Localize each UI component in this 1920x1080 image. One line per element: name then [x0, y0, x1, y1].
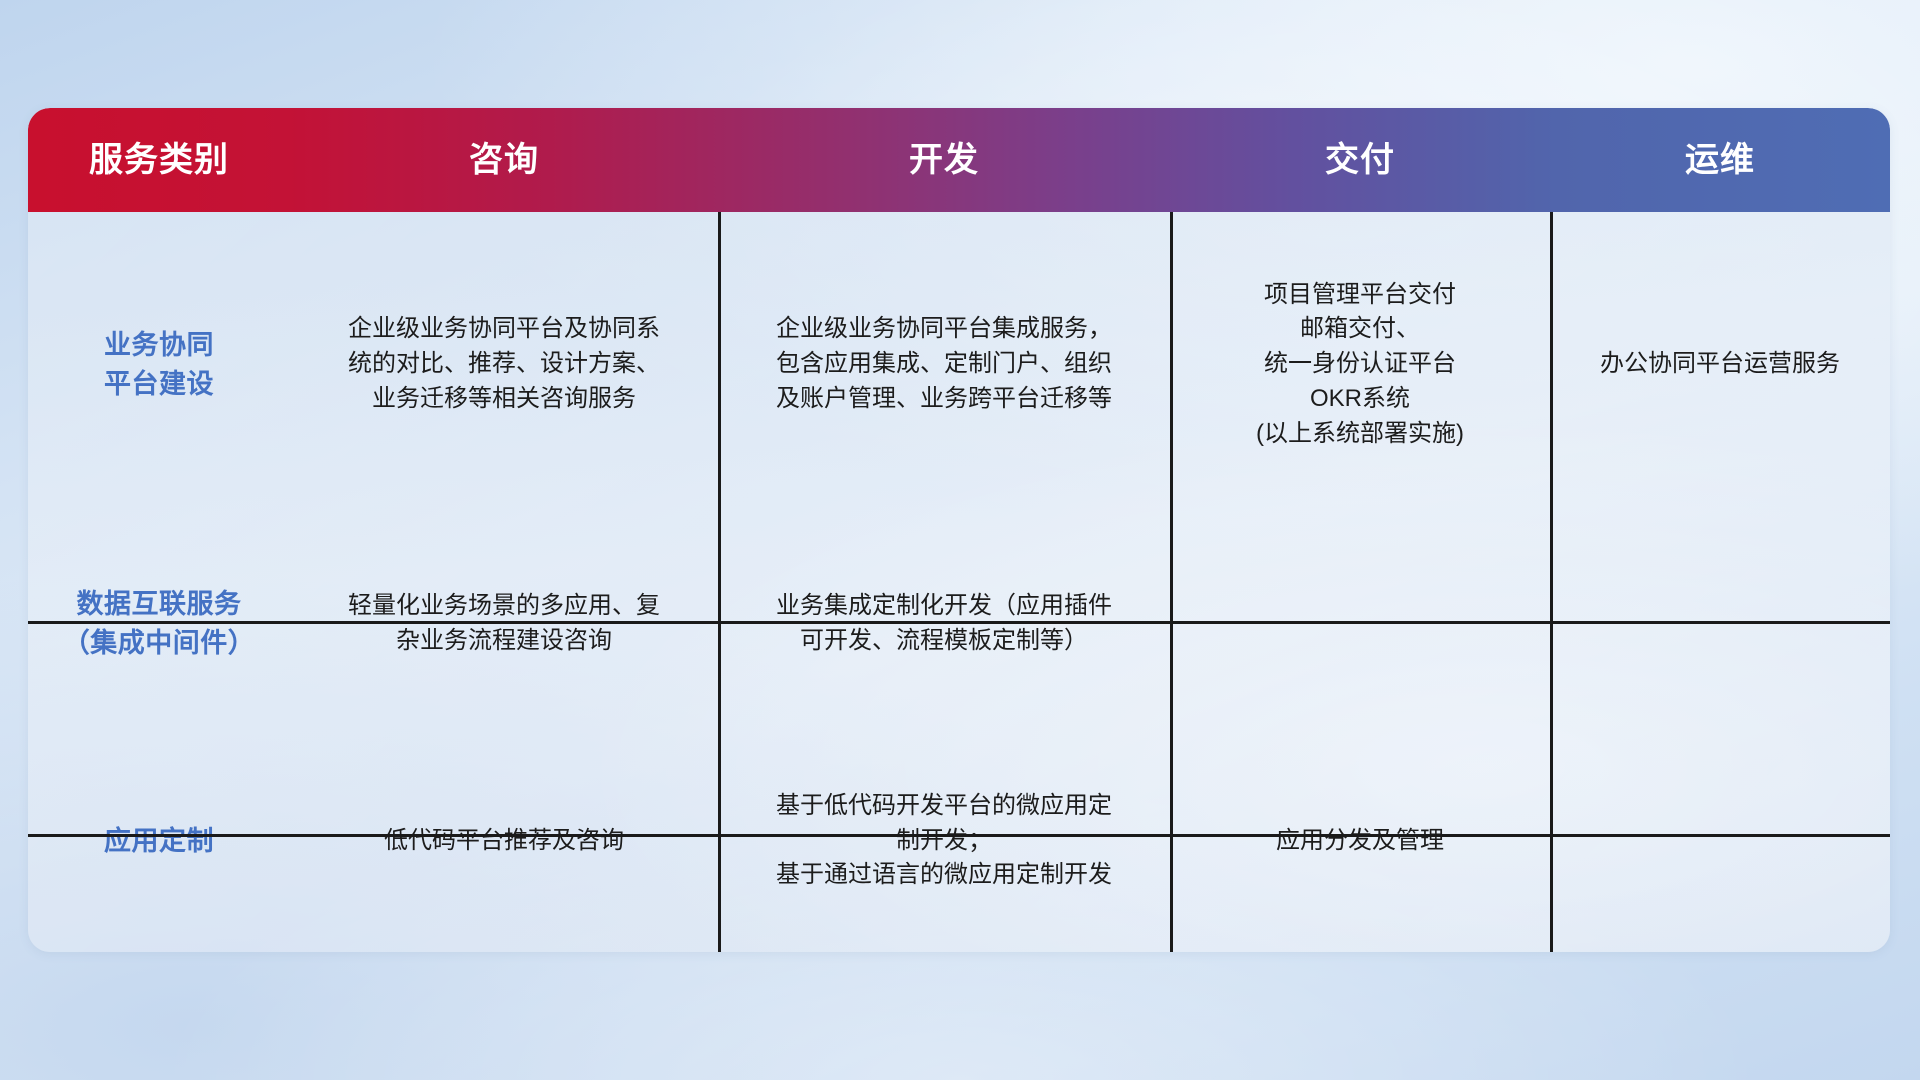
column-divider-consulting-development: [718, 212, 721, 952]
column-header-delivery: 交付: [1170, 108, 1550, 212]
column-divider-delivery-operations: [1550, 212, 1553, 952]
table-header-row: 服务类别 咨询 开发 交付 运维: [28, 108, 1890, 212]
row-label-business-collaboration: 业务协同 平台建设: [28, 212, 290, 517]
cell-row3-development: 基于低代码开发平台的微应用定 制开发； 基于通过语言的微应用定制开发: [718, 730, 1170, 952]
cell-row3-consulting: 低代码平台推荐及咨询: [290, 730, 718, 952]
cell-row3-operations: [1550, 730, 1890, 952]
table-row: 业务协同 平台建设 企业级业务协同平台及协同系 统的对比、推荐、设计方案、 业务…: [28, 212, 1890, 517]
table-row: 应用定制 低代码平台推荐及咨询 基于低代码开发平台的微应用定 制开发； 基于通过…: [28, 730, 1890, 952]
cell-row3-delivery: 应用分发及管理: [1170, 730, 1550, 952]
cell-row1-delivery: 项目管理平台交付 邮箱交付、 统一身份认证平台 OKR系统 (以上系统部署实施): [1170, 212, 1550, 517]
service-matrix-table: 服务类别 咨询 开发 交付 运维 业务协同 平台建设 企业级业务协同平台及协同系…: [28, 108, 1890, 952]
column-header-operations: 运维: [1550, 108, 1890, 212]
row-label-app-customization: 应用定制: [28, 730, 290, 952]
column-header-development: 开发: [718, 108, 1170, 212]
column-header-consulting: 咨询: [290, 108, 718, 212]
cell-row1-development: 企业级业务协同平台集成服务， 包含应用集成、定制门户、组织 及账户管理、业务跨平…: [718, 212, 1170, 517]
cell-row1-operations: 办公协同平台运营服务: [1550, 212, 1890, 517]
row-divider-2: [28, 834, 1890, 837]
cell-row1-consulting: 企业级业务协同平台及协同系 统的对比、推荐、设计方案、 业务迁移等相关咨询服务: [290, 212, 718, 517]
column-divider-development-delivery: [1170, 212, 1173, 952]
row-divider-1: [28, 621, 1890, 624]
column-header-service-category: 服务类别: [28, 108, 290, 212]
table-body: 业务协同 平台建设 企业级业务协同平台及协同系 统的对比、推荐、设计方案、 业务…: [28, 212, 1890, 952]
